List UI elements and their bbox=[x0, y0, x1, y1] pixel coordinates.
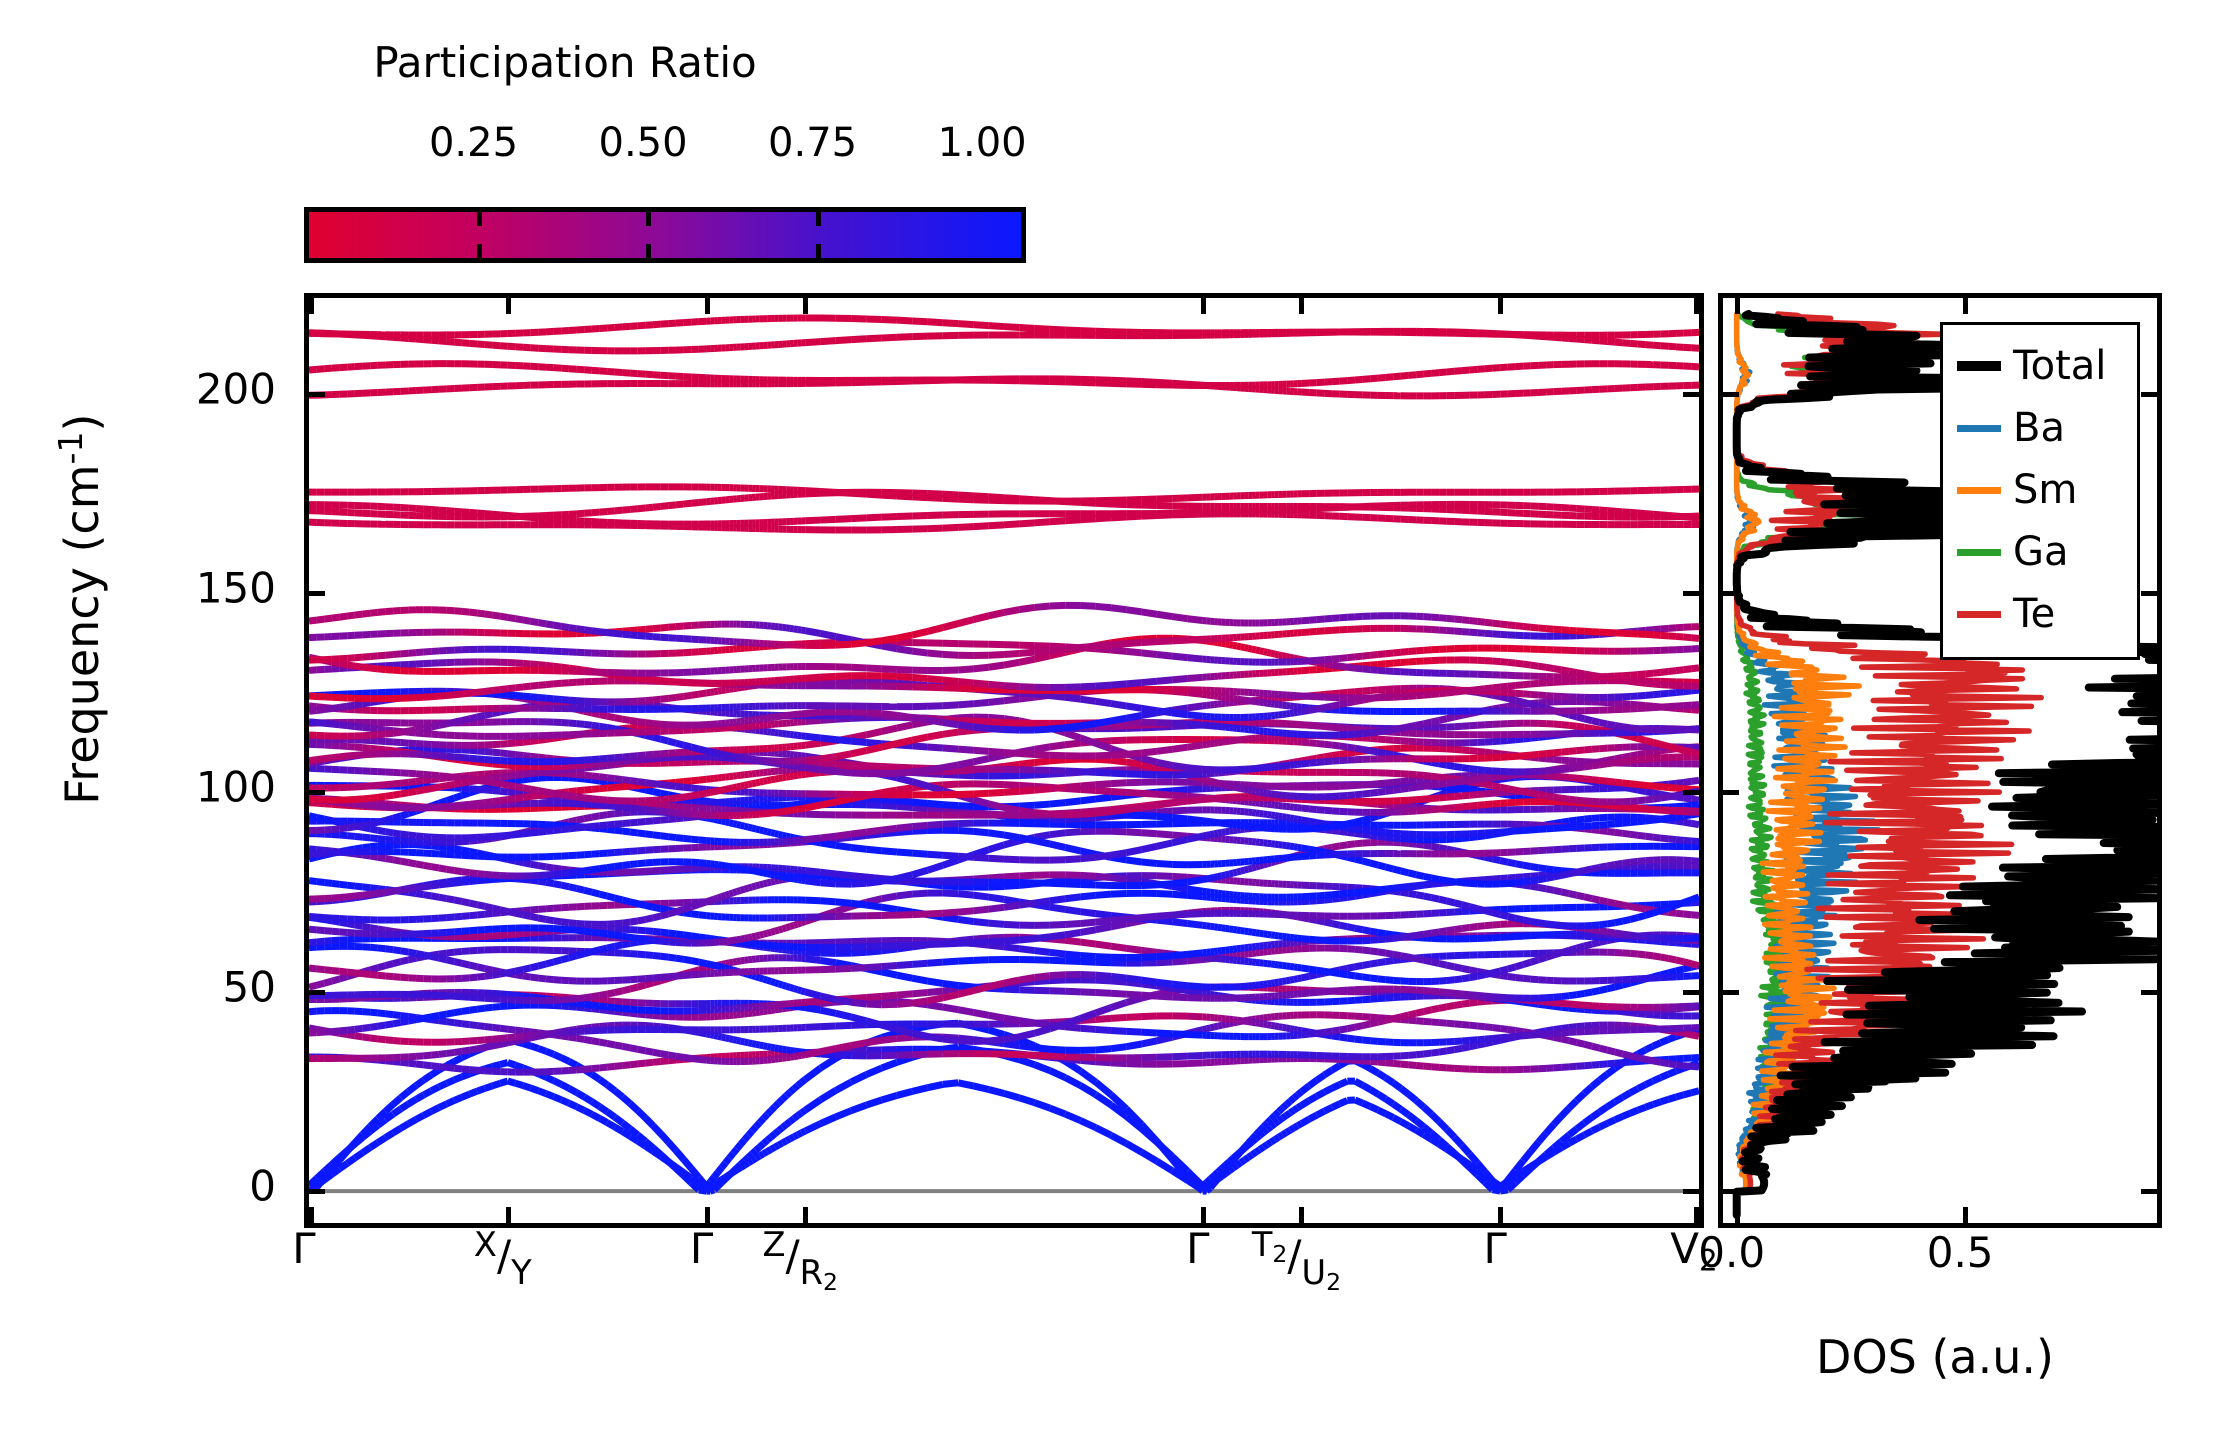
y-tick-label: 150 bbox=[196, 564, 276, 613]
x-tick-mark bbox=[803, 1207, 808, 1223]
colorbar-tick-mark bbox=[646, 212, 651, 226]
dos-y-tick-mark bbox=[2141, 392, 2157, 397]
x-tick-mark bbox=[705, 1207, 710, 1223]
x-tick-mark bbox=[1498, 1207, 1503, 1223]
y-tick-label: 100 bbox=[196, 763, 276, 812]
y-tick-mark bbox=[1683, 790, 1699, 795]
dos-y-tick-mark bbox=[2141, 990, 2157, 995]
legend-label: Sm bbox=[2013, 470, 2077, 510]
y-tick-mark bbox=[309, 591, 325, 596]
y-tick-mark bbox=[309, 1189, 325, 1194]
x-tick-mark bbox=[1201, 298, 1206, 314]
colorbar-gradient bbox=[304, 207, 1026, 263]
legend-item-sm: Sm bbox=[1949, 459, 2131, 521]
dos-x-tick-labels: 0.00.5 bbox=[1718, 1228, 2152, 1288]
x-tick-mark bbox=[1201, 1207, 1206, 1223]
x-tick-mark bbox=[1299, 298, 1304, 314]
band-structure-axes bbox=[304, 293, 1704, 1228]
legend-swatch-sm bbox=[1957, 487, 2001, 494]
legend-swatch-te bbox=[1957, 611, 2001, 618]
colorbar-tick-mark bbox=[477, 212, 482, 226]
x-tick-mark bbox=[506, 298, 511, 314]
x-tick-mark bbox=[705, 298, 710, 314]
legend-label: Ga bbox=[2013, 532, 2069, 572]
band-curves bbox=[309, 298, 1699, 1223]
x-tick-label: Γ bbox=[1484, 1228, 1507, 1270]
colorbar-tick-label: 0.50 bbox=[599, 120, 688, 166]
x-tick-mark bbox=[1694, 298, 1699, 314]
y-tick-label: 200 bbox=[196, 364, 276, 413]
dos-y-tick-mark bbox=[2141, 790, 2157, 795]
x-tick-label: Γ bbox=[1186, 1228, 1209, 1270]
legend-item-te: Te bbox=[1949, 583, 2131, 645]
band-y-tick-labels: 050100150200 bbox=[120, 293, 290, 1218]
x-tick-mark bbox=[309, 298, 314, 314]
colorbar-tick-label: 1.00 bbox=[938, 120, 1027, 166]
colorbar-tick-mark bbox=[646, 244, 651, 258]
colorbar-tick-label: 0.75 bbox=[768, 120, 857, 166]
colorbar-tick-label: 0.25 bbox=[429, 120, 518, 166]
dos-x-tick-mark bbox=[1963, 298, 1968, 314]
x-tick-mark bbox=[1694, 1207, 1699, 1223]
x-tick-mark bbox=[803, 298, 808, 314]
y-tick-mark bbox=[1683, 990, 1699, 995]
x-tick-label: Z/R2 bbox=[762, 1228, 837, 1295]
y-axis-label: Frequency (cm-1) bbox=[51, 229, 109, 989]
dos-y-tick-mark bbox=[2141, 591, 2157, 596]
x-tick-mark bbox=[309, 1207, 314, 1223]
dos-x-axis-label: DOS (a.u.) bbox=[1718, 1330, 2152, 1384]
legend-item-ba: Ba bbox=[1949, 397, 2131, 459]
legend-item-total: Total bbox=[1949, 335, 2131, 397]
x-tick-mark bbox=[1498, 298, 1503, 314]
x-tick-label: T2/U2 bbox=[1252, 1228, 1341, 1295]
y-tick-mark bbox=[309, 790, 325, 795]
dos-y-tick-mark bbox=[1723, 392, 1739, 397]
colorbar-tick-mark bbox=[816, 212, 821, 226]
dos-x-tick-label: 0.5 bbox=[1927, 1228, 1994, 1277]
dos-x-tick-mark bbox=[1735, 298, 1740, 314]
legend-swatch-ga bbox=[1957, 549, 2001, 556]
x-tick-label: Γ bbox=[292, 1228, 315, 1270]
y-tick-mark bbox=[1683, 1189, 1699, 1194]
dos-y-tick-mark bbox=[1723, 591, 1739, 596]
legend-swatch-ba bbox=[1957, 425, 2001, 432]
colorbar-tick-labels: 0.250.500.751.00 bbox=[304, 120, 1016, 166]
y-tick-mark bbox=[309, 990, 325, 995]
legend-item-ga: Ga bbox=[1949, 521, 2131, 583]
legend-label: Te bbox=[2013, 594, 2055, 634]
y-tick-label: 0 bbox=[249, 1162, 276, 1211]
legend-label: Ba bbox=[2013, 408, 2065, 448]
colorbar-tick-mark bbox=[477, 244, 482, 258]
y-tick-mark bbox=[1683, 591, 1699, 596]
legend-swatch-total bbox=[1957, 361, 2001, 371]
dos-y-tick-mark bbox=[1723, 790, 1739, 795]
dos-x-tick-label: 0.0 bbox=[1698, 1228, 1765, 1277]
y-tick-mark bbox=[1683, 392, 1699, 397]
dos-x-tick-mark bbox=[1735, 1207, 1740, 1223]
colorbar-title: Participation Ratio bbox=[300, 38, 830, 87]
dos-y-tick-mark bbox=[2141, 1189, 2157, 1194]
dos-x-tick-mark bbox=[1963, 1207, 1968, 1223]
dos-legend: TotalBaSmGaTe bbox=[1940, 322, 2140, 660]
legend-label: Total bbox=[2013, 346, 2106, 386]
colorbar-tick-mark bbox=[816, 244, 821, 258]
y-tick-label: 50 bbox=[223, 962, 276, 1011]
x-tick-label: X/Y bbox=[474, 1228, 532, 1290]
dos-y-tick-mark bbox=[1723, 1189, 1739, 1194]
band-plot-area bbox=[309, 298, 1699, 1223]
figure-canvas: Participation Ratio 0.250.500.751.00 050… bbox=[0, 0, 2222, 1455]
x-tick-label: Γ bbox=[690, 1228, 713, 1270]
x-tick-mark bbox=[1299, 1207, 1304, 1223]
band-x-tick-labels: ΓX/YΓZ/R2ΓT2/U2ΓV2 bbox=[304, 1228, 1694, 1348]
y-tick-mark bbox=[309, 392, 325, 397]
x-tick-mark bbox=[506, 1207, 511, 1223]
dos-y-tick-mark bbox=[1723, 990, 1739, 995]
